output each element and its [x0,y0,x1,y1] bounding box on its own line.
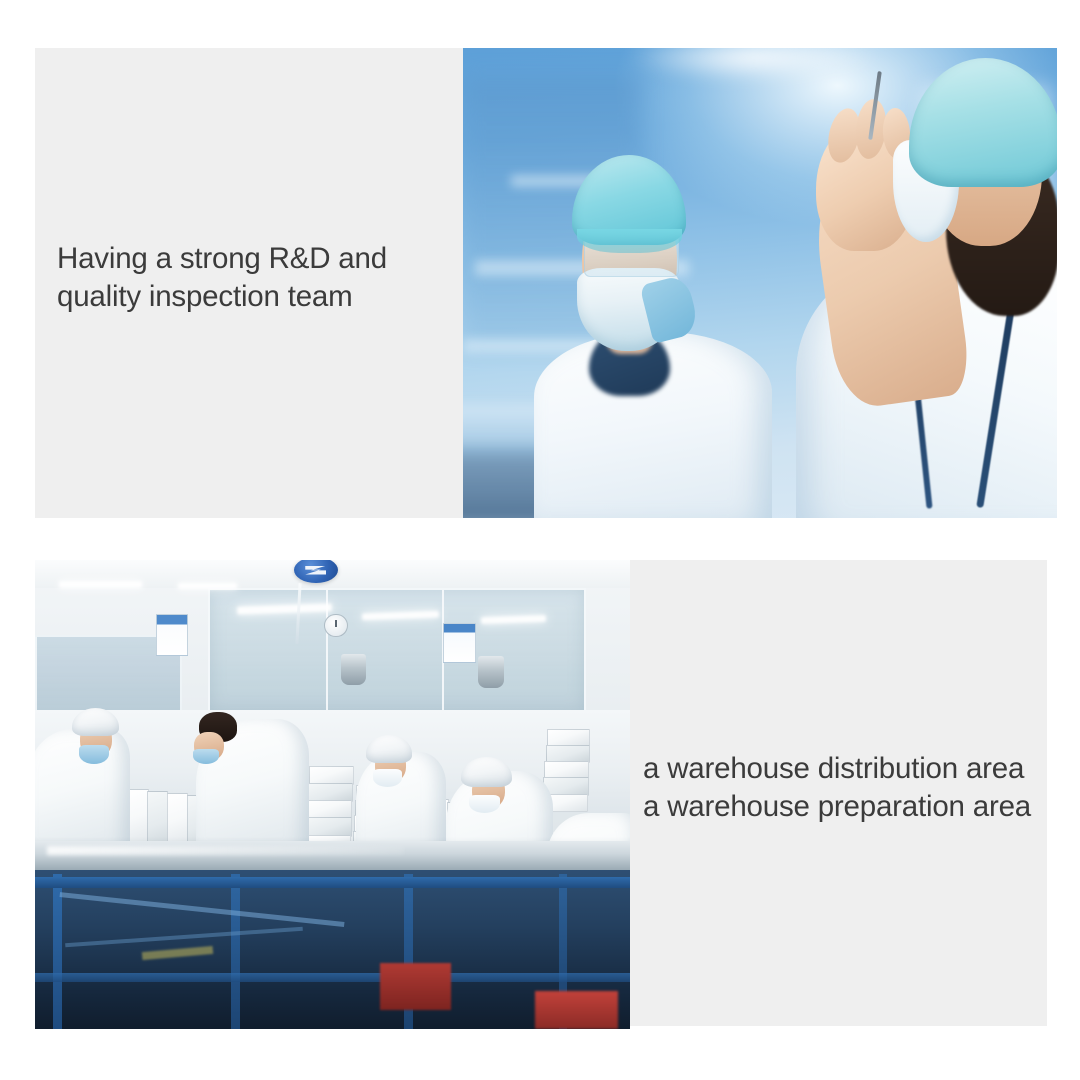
caption-rd-quality-line1: Having a strong R&D and [57,240,447,278]
table-rail [35,877,630,888]
stainless-container [341,654,366,685]
ceiling-light [59,581,142,588]
red-crate [535,991,618,1029]
warehouse-scene [35,560,630,1029]
caption-rd-quality: Having a strong R&D and quality inspecti… [57,240,447,316]
caption-warehouse: a warehouse distribution area a warehous… [643,750,1063,826]
red-crate [380,963,451,1010]
lab-worker-front-hairnet [572,155,686,245]
wall-clock-icon [324,614,347,638]
wall-notice-board [443,623,476,663]
lab-rd-quality-inspection-photo [463,48,1057,518]
worker-mask [373,769,402,787]
ceiling-light [178,583,238,589]
worker-hairnet [366,735,412,762]
packing-box [305,817,352,836]
table-reflection [47,846,404,855]
caption-rd-quality-line2: quality inspection team [57,278,447,316]
caption-warehouse-line2: a warehouse preparation area [643,788,1063,826]
lab-scene [463,48,1057,518]
warehouse-packing-area-photo [35,560,630,1029]
page-root: Having a strong R&D and quality inspecti… [0,0,1080,1080]
caption-warehouse-line1: a warehouse distribution area [643,750,1063,788]
table-rail [35,973,630,982]
table-leg [231,874,239,1029]
wall-notice-board [156,614,188,656]
stainless-container [478,656,504,688]
lab-worker-side [736,67,1057,518]
lab-worker-side-hairnet [909,58,1057,187]
